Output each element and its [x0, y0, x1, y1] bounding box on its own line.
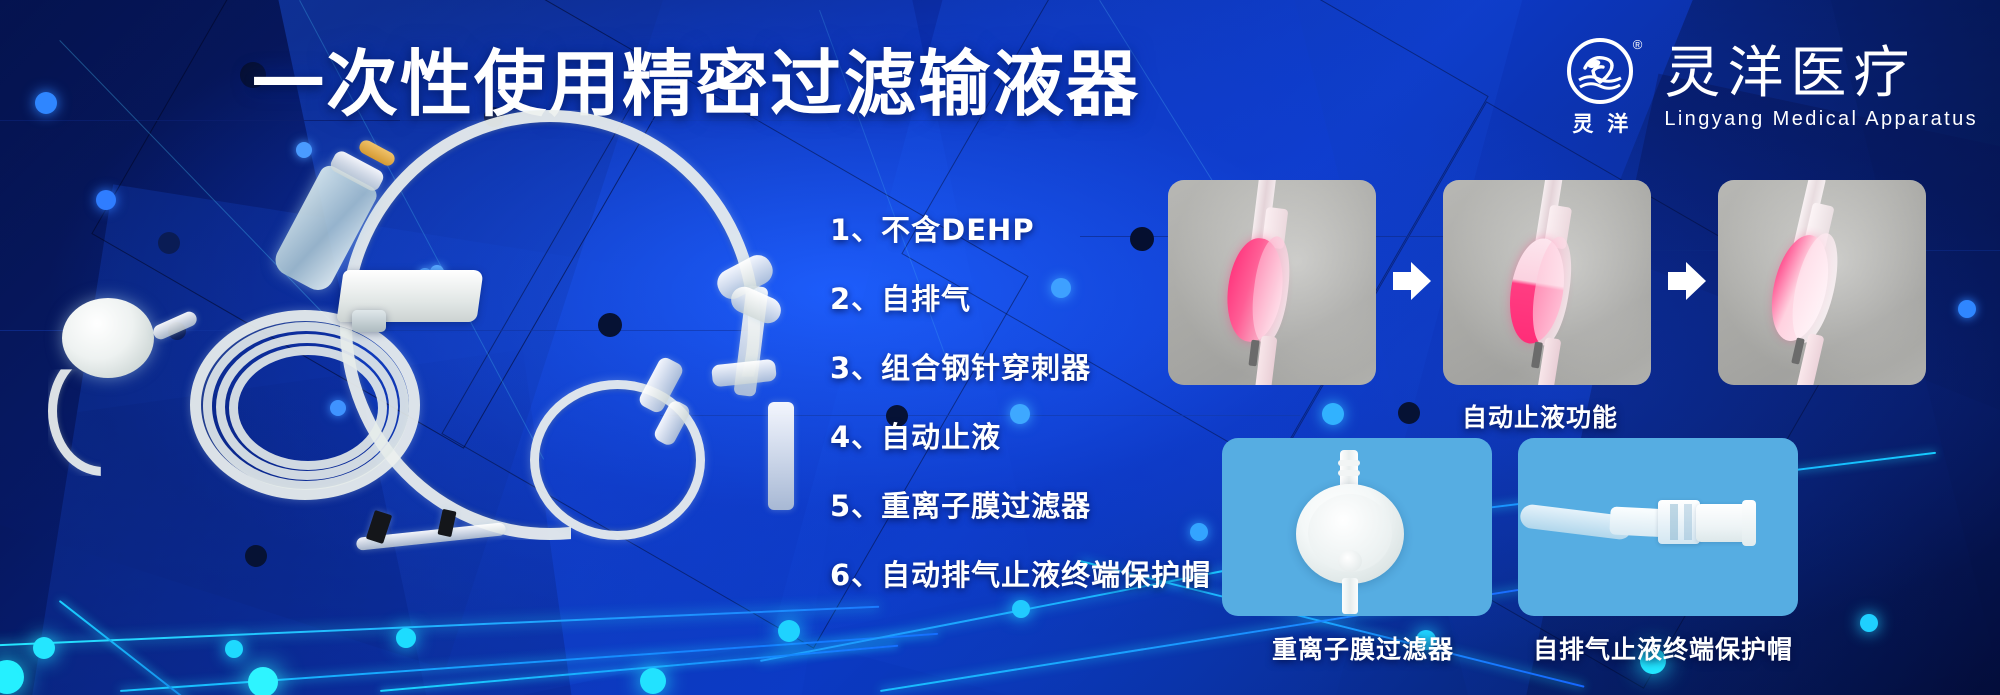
- brand-logo: ® 灵洋 灵洋医疗 Lingyang Medical Apparatus: [1558, 38, 1978, 138]
- feature-item-2: 2、自排气: [830, 285, 1211, 314]
- iv-tube-coil: [229, 346, 387, 470]
- network-node-cyan: [640, 668, 666, 694]
- network-node-glow: [35, 92, 57, 114]
- product-banner: 一次性使用精密过滤输液器 ® 灵洋 灵洋医疗 Lingyang Medical …: [0, 0, 2000, 695]
- network-node-cyan: [1012, 600, 1030, 618]
- registered-mark-icon: ®: [1633, 37, 1643, 52]
- brand-text-block: 灵洋医疗 Lingyang Medical Apparatus: [1664, 45, 1978, 131]
- emblem-caption: 灵洋: [1558, 108, 1642, 138]
- detail-card-filter: [1222, 438, 1492, 616]
- detail-caption-filter: 重离子膜过滤器: [1272, 630, 1454, 666]
- flow-regulator-wheel: [352, 310, 386, 332]
- network-node-cyan: [778, 620, 800, 642]
- brand-name-cn: 灵洋医疗: [1664, 45, 1978, 104]
- feature-item-6: 6、自动排气止液终端保护帽: [830, 561, 1211, 590]
- network-node: [1398, 402, 1420, 424]
- feature-item-5: 5、重离子膜过滤器: [830, 492, 1211, 521]
- feature-item-4: 4、自动止液: [830, 423, 1211, 452]
- feature-list: 1、不含DEHP 2、自排气 3、组合钢针穿刺器 4、自动止液 5、重离子膜过滤…: [830, 216, 1211, 590]
- network-node-cyan: [33, 637, 55, 659]
- network-node-cyan: [248, 667, 278, 695]
- brand-name-en: Lingyang Medical Apparatus: [1664, 108, 1978, 131]
- product-photo: [40, 150, 800, 570]
- demo-sequence-caption: 自动止液功能: [1462, 398, 1618, 434]
- demo-card-step-1: [1168, 180, 1376, 385]
- network-node-cyan: [1860, 614, 1878, 632]
- feature-item-1: 1、不含DEHP: [830, 216, 1211, 245]
- iv-tube-connector: [151, 309, 199, 341]
- page-title: 一次性使用精密过滤输液器: [252, 48, 1140, 120]
- network-node-cyan: [225, 640, 243, 658]
- emblem-block: ® 灵洋: [1558, 38, 1642, 138]
- detail-card-protective-cap: [1518, 438, 1798, 616]
- terminal-protective-cap: [768, 402, 794, 510]
- network-node-glow: [1958, 300, 1976, 318]
- precision-filter-disc: [62, 298, 154, 378]
- detail-caption-protective-cap: 自排气止液终端保护帽: [1533, 630, 1793, 666]
- network-node-glow: [1322, 403, 1344, 425]
- network-node-cyan: [396, 628, 416, 648]
- feature-item-3: 3、组合钢针穿刺器: [830, 354, 1211, 383]
- demo-card-step-3: [1718, 180, 1926, 385]
- lingyang-wave-emblem-icon: ®: [1567, 38, 1633, 104]
- demo-card-step-2: [1443, 180, 1651, 385]
